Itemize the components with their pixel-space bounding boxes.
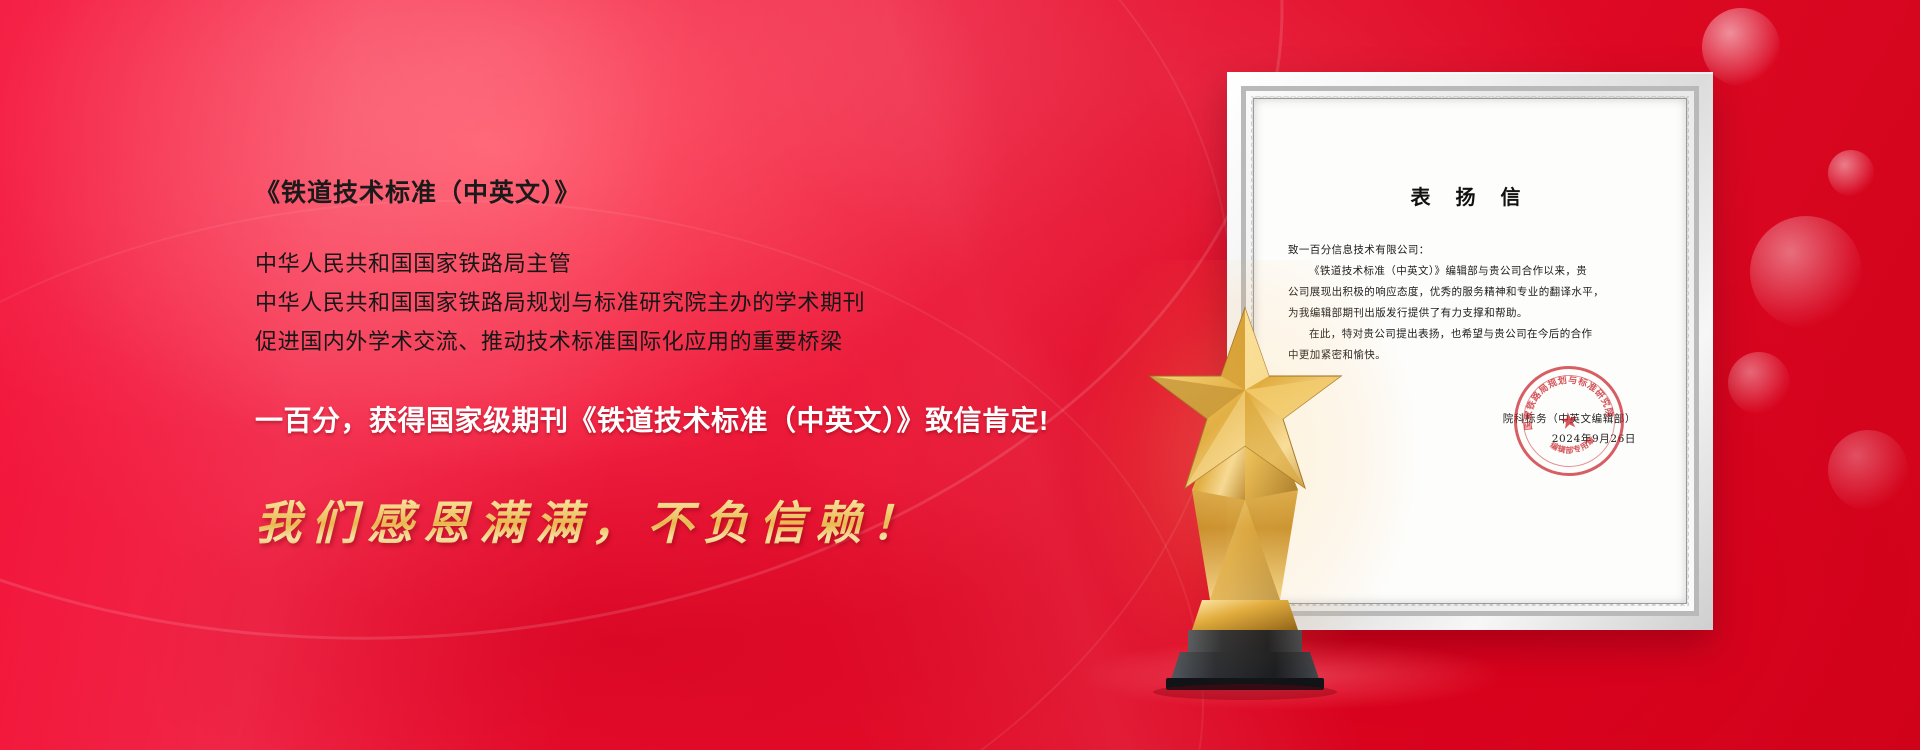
journal-description-line: 中华人民共和国国家铁路局规划与标准研究院主办的学术期刊 — [255, 283, 1015, 322]
main-headline: 一百分，获得国家级期刊《铁道技术标准（中英文）》致信肯定! — [255, 399, 1015, 439]
official-seal-icon: ★ 国家铁路局规划与标准研究院 编辑部专用章 — [1506, 358, 1632, 484]
trophy-svg — [1130, 300, 1360, 700]
svg-text:编辑部专用章: 编辑部专用章 — [1547, 433, 1598, 459]
certificate-body-line: 《铁道技术标准（中英文）》编辑部与贵公司合作以来，贵 — [1288, 261, 1652, 282]
journal-description-line: 促进国内外学术交流、推动技术标准国际化应用的重要桥梁 — [255, 322, 1015, 361]
bokeh-circle-icon — [1728, 352, 1790, 414]
promo-banner: 《铁道技术标准（中英文）》 中华人民共和国国家铁路局主管 中华人民共和国国家铁路… — [0, 0, 1920, 750]
bokeh-circle-icon — [1828, 150, 1874, 196]
gold-slogan: 我们感恩满满，不负信赖！ — [255, 487, 1015, 553]
journal-description-list: 中华人民共和国国家铁路局主管 中华人民共和国国家铁路局规划与标准研究院主办的学术… — [255, 244, 1015, 361]
svg-text:国家铁路局规划与标准研究院: 国家铁路局规划与标准研究院 — [1516, 367, 1616, 431]
certificate-salutation: 致一百分信息技术有限公司： — [1288, 240, 1652, 261]
bokeh-circle-icon — [1702, 8, 1780, 86]
headline-copy-block: 《铁道技术标准（中英文）》 中华人民共和国国家铁路局主管 中华人民共和国国家铁路… — [255, 178, 1015, 553]
seal-arc-text: 国家铁路局规划与标准研究院 编辑部专用章 — [1510, 362, 1629, 481]
gold-star-trophy-icon — [1130, 300, 1360, 700]
journal-description-line: 中华人民共和国国家铁路局主管 — [255, 244, 1015, 283]
bokeh-circle-icon — [1828, 430, 1908, 510]
bokeh-circle-icon — [1750, 216, 1862, 328]
journal-title: 《铁道技术标准（中英文）》 — [255, 178, 1015, 208]
certificate-title: 表 扬 信 — [1288, 181, 1652, 210]
